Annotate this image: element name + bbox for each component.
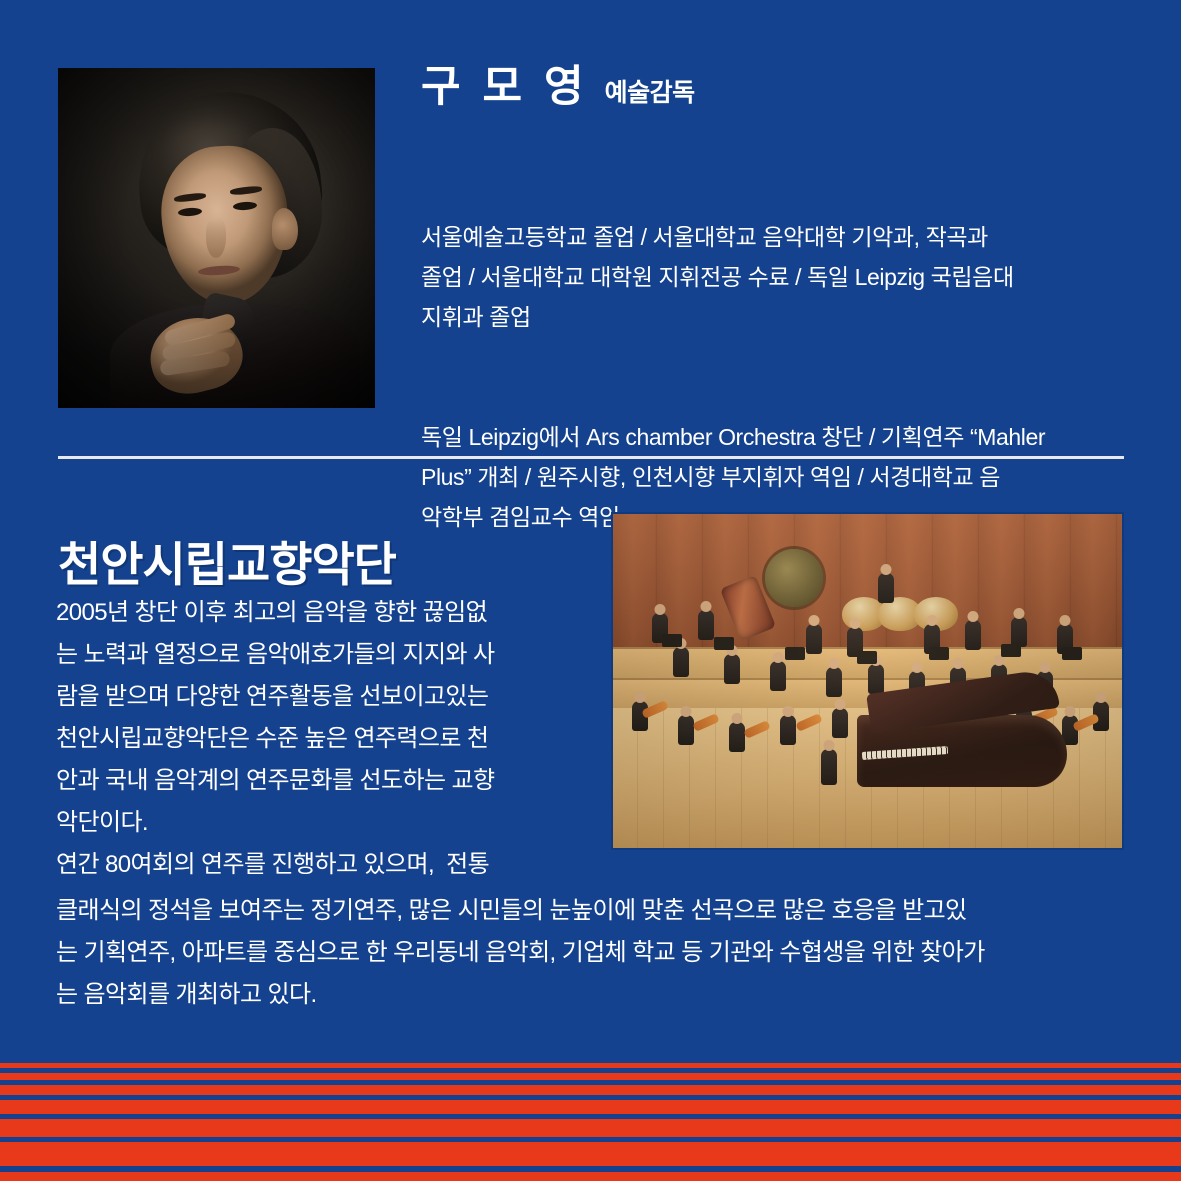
musician-figure (770, 661, 786, 691)
orchestra-photo (611, 512, 1124, 850)
stripe-band (0, 1142, 1181, 1166)
musician-figure (729, 722, 745, 752)
bottom-stripe-decoration (0, 1063, 1181, 1181)
conductor-portrait (58, 68, 375, 408)
music-stand-icon (714, 637, 734, 650)
concert-hall-wall (611, 512, 1124, 661)
section-divider (58, 456, 1124, 459)
music-stand-icon (929, 647, 949, 660)
orchestra-description-column: 2005년 창단 이후 최고의 음악을 향한 끊임없 는 노력과 열정으로 음악… (56, 592, 596, 886)
music-stand-icon (1062, 647, 1082, 660)
musician-conductor-figure (878, 573, 894, 603)
stripe-band (0, 1100, 1181, 1114)
gong-icon (765, 549, 823, 607)
stripe-band (0, 1073, 1181, 1080)
musician-figure (832, 708, 848, 738)
musician-figure (678, 715, 694, 745)
musician-figure (1011, 617, 1027, 647)
poster-canvas: 구 모 영 예술감독 서울예술고등학교 졸업 / 서울대학교 음악대학 기악과,… (0, 0, 1181, 1181)
musician-figure (826, 667, 842, 697)
music-stand-icon (785, 647, 805, 660)
music-stand-icon (662, 634, 682, 647)
music-stand-icon (1001, 644, 1021, 657)
music-stand-icon (857, 651, 877, 664)
musician-figure (806, 624, 822, 654)
pianist-figure (821, 749, 837, 785)
conductor-section: 구 모 영 예술감독 서울예술고등학교 졸업 / 서울대학교 음악대학 기악과,… (0, 0, 1181, 460)
conductor-role: 예술감독 (605, 81, 695, 106)
orchestra-title: 천안시립교향악단 (58, 541, 396, 588)
musician-figure (780, 715, 796, 745)
orchestra-closing-text: 클래식의 정석을 보여주는 정기연주, 많은 시민들의 눈높이에 맞춘 선곡으로… (56, 890, 1136, 1016)
stripe-band (0, 1085, 1181, 1095)
bio-paragraph-education: 서울예술고등학교 졸업 / 서울대학교 음악대학 기악과, 작곡과 졸업 / 서… (421, 217, 1133, 337)
musician-figure (673, 647, 689, 677)
orchestra-description-full: 클래식의 정석을 보여주는 정기연주, 많은 시민들의 눈높이에 맞춘 선곡으로… (56, 890, 1136, 1016)
conductor-name: 구 모 영 (421, 66, 589, 109)
conductor-name-row: 구 모 영 예술감독 (421, 0, 1133, 109)
orchestra-intro-text: 2005년 창단 이후 최고의 음악을 향한 끊임없 는 노력과 열정으로 음악… (56, 592, 596, 886)
stripe-band (0, 1172, 1181, 1181)
musician-figure (698, 610, 714, 640)
musician-figure (724, 654, 740, 684)
musician-figure (868, 664, 884, 694)
stripe-band (0, 1119, 1181, 1137)
musician-figure (965, 620, 981, 650)
portrait-vignette (58, 68, 375, 408)
